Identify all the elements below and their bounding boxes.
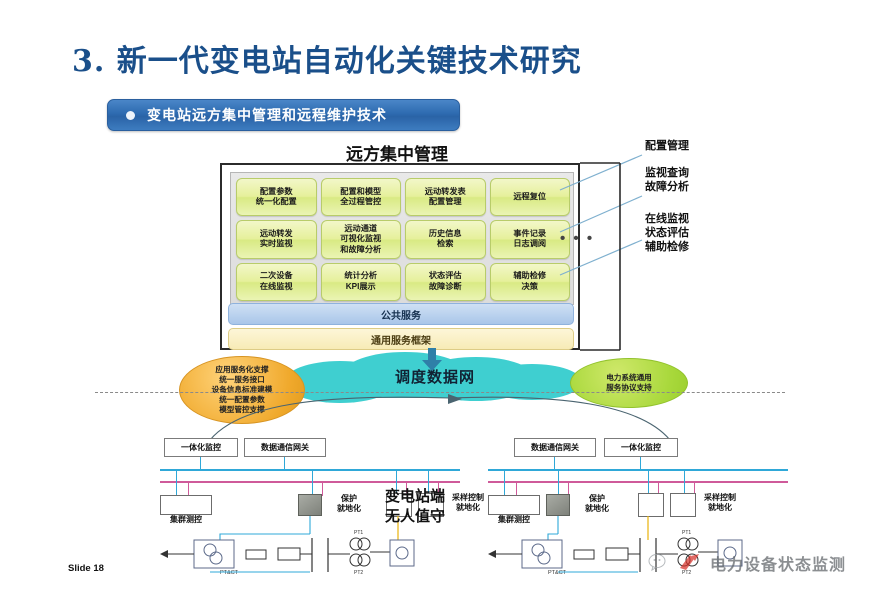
function-grid: 配置参数 统一化配置 配置和模型 全过程管控 远动转发表 配置管理 远程复位 远… [236, 178, 570, 301]
sampling-label: 采样控制 就地化 [696, 493, 744, 513]
sampling-device-a [638, 493, 664, 517]
watermark: 电力设备状态监测 [648, 551, 846, 575]
annotation-config-management: 配置管理 [645, 139, 689, 153]
function-cell[interactable]: 远程复位 [490, 178, 571, 216]
bus-line-pink [488, 481, 788, 483]
remote-center-heading: 远方集中管理 [346, 140, 448, 165]
public-service-band: 公共服务 [228, 303, 574, 325]
cluster-measure-device [160, 495, 212, 515]
gateway-box-data-comm-gateway[interactable]: 数据通信网关 [514, 438, 596, 457]
protection-label: 保护 就地化 [574, 494, 620, 514]
sampling-label: 采样控制 就地化 [444, 493, 492, 513]
gateway-box-integrated-monitoring[interactable]: 一体化监控 [604, 438, 678, 457]
gateway-box-integrated-monitoring[interactable]: 一体化监控 [164, 438, 238, 457]
function-cell[interactable]: 辅助检修 决策 [490, 263, 571, 301]
sampling-device-b [670, 493, 696, 517]
common-framework-band: 通用服务框架 [228, 328, 574, 350]
slide-number: Slide 18 [68, 563, 104, 574]
link-line [284, 457, 285, 469]
function-cell[interactable]: 远动转发表 配置管理 [405, 178, 486, 216]
subtitle-badge-label: 变电站远方集中管理和远程维护技术 [147, 105, 387, 125]
link-line [504, 470, 505, 496]
brand-logo-icon [677, 552, 703, 574]
remote-center-inner-panel: 配置参数 统一化配置 配置和模型 全过程管控 远动转发表 配置管理 远程复位 远… [230, 172, 574, 305]
watermark-text: 电力设备状态监测 [710, 551, 846, 575]
single-line-diagram: PT&CT PT1 PT2 [160, 516, 460, 586]
function-cell[interactable]: 配置和模型 全过程管控 [321, 178, 402, 216]
link-line [554, 457, 555, 469]
cluster-measure-device [488, 495, 540, 515]
down-arrow-icon [420, 348, 444, 372]
link-line [200, 457, 201, 469]
function-cell[interactable]: 历史信息 检索 [405, 220, 486, 258]
bus-line-blue [160, 469, 460, 471]
function-cell[interactable]: 远动通道 可视化监视 和故障分析 [321, 220, 402, 258]
bullet-icon [126, 111, 135, 120]
link-line [188, 482, 189, 496]
link-line [640, 457, 641, 469]
svg-text:PT&CT: PT&CT [548, 570, 567, 576]
annotation-online-monitor: 在线监视 状态评估 辅助检修 [645, 212, 689, 253]
subtitle-badge[interactable]: 变电站远方集中管理和远程维护技术 [107, 99, 460, 131]
page-title: 3. 新一代变电站自动化关键技术研究 [72, 36, 582, 80]
protection-device-icon [546, 494, 570, 516]
link-line [322, 482, 323, 496]
svg-text:PT&CT: PT&CT [220, 570, 239, 576]
bus-line-pink [160, 481, 460, 483]
function-cell[interactable]: 远动转发 实时监视 [236, 220, 317, 258]
function-cell[interactable]: 配置参数 统一化配置 [236, 178, 317, 216]
link-line [558, 470, 559, 496]
function-cell[interactable]: 状态评估 故障诊断 [405, 263, 486, 301]
link-line [312, 470, 313, 496]
function-cell[interactable]: 事件记录 日志调阅 [490, 220, 571, 258]
gateway-box-data-comm-gateway[interactable]: 数据通信网关 [244, 438, 326, 457]
bus-line-blue [488, 469, 788, 471]
link-line [516, 482, 517, 496]
protection-device-icon [298, 494, 322, 516]
svg-text:PT1: PT1 [354, 530, 363, 536]
annotation-monitor-query: 监视查询 故障分析 [645, 166, 689, 194]
svg-text:PT1: PT1 [682, 530, 691, 536]
ellipsis-indicator: • • • [560, 230, 594, 247]
function-cell[interactable]: 二次设备 在线监视 [236, 263, 317, 301]
slide-canvas: 3. 新一代变电站自动化关键技术研究 变电站远方集中管理和远程维护技术 远方集中… [0, 0, 870, 608]
protection-label: 保护 就地化 [326, 494, 372, 514]
center-note: 变电站端 无人值守 [385, 486, 445, 527]
link-line [176, 470, 177, 496]
svg-text:PT2: PT2 [354, 570, 363, 576]
function-cell[interactable]: 统计分析 KPI展示 [321, 263, 402, 301]
wechat-icon [648, 552, 670, 574]
